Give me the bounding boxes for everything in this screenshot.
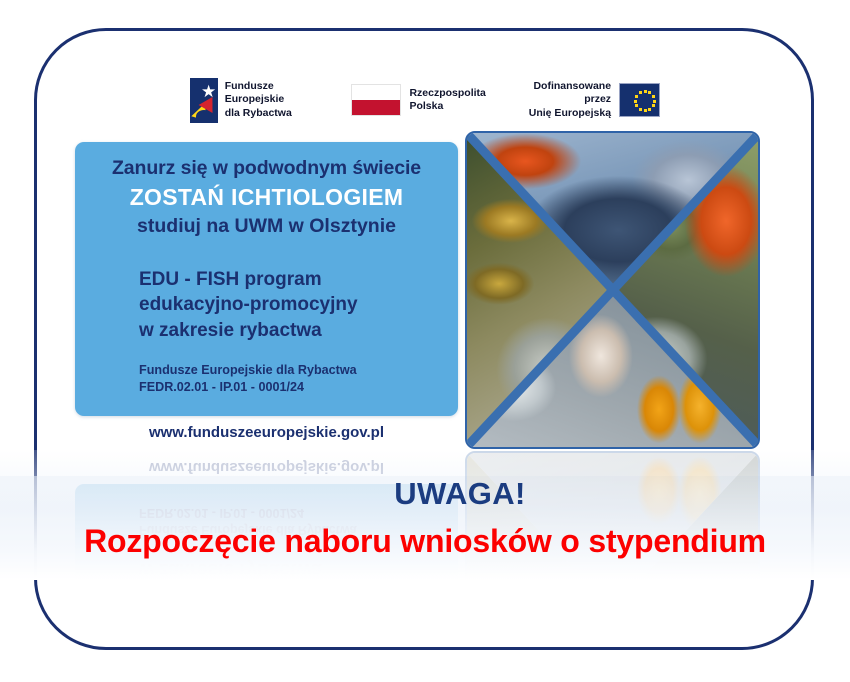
program-line-1: EDU - FISH program <box>139 267 458 292</box>
funding-project-number: FEDR.02.01 - IP.01 - 0001/24 <box>139 379 458 396</box>
eu-star-icon <box>644 90 647 93</box>
pl-logo-caption: Rzeczpospolita Polska <box>409 87 485 114</box>
poster-announcement: ★ Fundusze Europejskie dla Rybactwa Rzec… <box>0 0 850 682</box>
eu-star-icon <box>635 95 638 98</box>
eu-star-icon <box>644 109 647 112</box>
fundusze-europejskie-logo-block: ★ Fundusze Europejskie dla Rybactwa <box>190 78 315 123</box>
fundusze-europejskie-dla-rybactwa-logo: ★ <box>190 78 218 123</box>
funduszeeuropejskie-url[interactable]: www.funduszeeuropejskie.gov.pl <box>75 424 458 441</box>
eu-star-icon <box>634 100 637 103</box>
eu-star-icon <box>652 95 655 98</box>
poster-heading-line-2: ZOSTAŃ ICHTIOLOGIEM <box>75 184 458 211</box>
star-icon: ★ <box>201 83 216 100</box>
poster-heading-line-1: Zanurz się w podwodnym świecie <box>75 157 458 180</box>
poster-heading-line-3: studiuj na UWM w Olsztynie <box>75 215 458 238</box>
blue-info-panel: Zanurz się w podwodnym świecie ZOSTAŃ IC… <box>75 142 458 416</box>
eu-star-icon <box>635 104 638 107</box>
photo-collage <box>465 131 760 449</box>
rzeczpospolita-polska-flag <box>351 84 401 116</box>
european-union-flag <box>619 83 660 117</box>
funding-program-name: Fundusze Europejskie dla Rybactwa <box>139 362 458 379</box>
program-description: EDU - FISH program edukacyjno-promocyjny… <box>75 267 458 343</box>
funding-reference: Fundusze Europejskie dla Rybactwa FEDR.0… <box>75 362 458 396</box>
eu-star-icon <box>648 108 651 111</box>
blue-wedge-shape <box>196 110 212 123</box>
fe-logo-caption: Fundusze Europejskie dla Rybactwa <box>225 80 316 120</box>
eu-star-icon <box>639 108 642 111</box>
eu-star-icon <box>652 104 655 107</box>
logo-strip: ★ Fundusze Europejskie dla Rybactwa Rzec… <box>190 74 660 126</box>
eu-star-icon <box>653 100 656 103</box>
program-line-2: edukacyjno-promocyjny <box>139 292 458 317</box>
announcement-headline: Rozpoczęcie naboru wniosków o stypendium <box>0 523 850 560</box>
rzeczpospolita-polska-logo-block: Rzeczpospolita Polska <box>351 84 485 116</box>
alert-label: UWAGA! <box>0 476 850 512</box>
eu-star-icon <box>639 91 642 94</box>
european-union-logo-block: Dofinansowane przez Unię Europejską <box>524 80 660 120</box>
eu-logo-caption: Dofinansowane przez Unię Europejską <box>524 80 611 120</box>
program-line-3: w zakresie rybactwa <box>139 318 458 343</box>
